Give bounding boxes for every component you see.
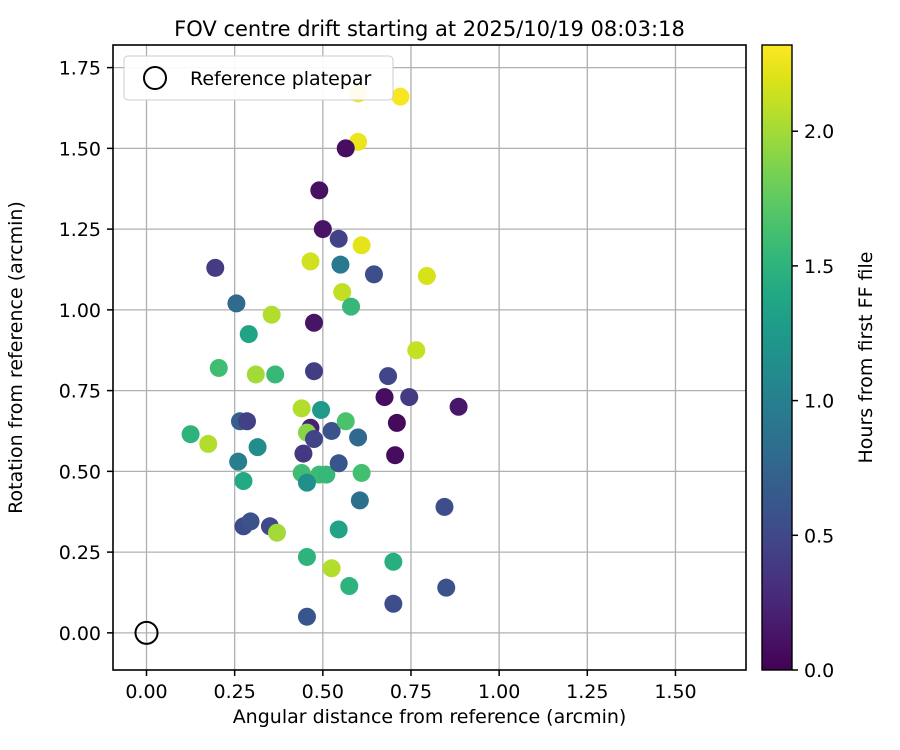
colorbar-tick-label: 2.0: [804, 121, 834, 143]
y-tick-label: 1.00: [59, 300, 101, 322]
scatter-point: [314, 220, 332, 238]
scatter-point: [294, 445, 312, 463]
axes-background: [113, 45, 746, 670]
y-tick-label: 0.75: [59, 381, 101, 403]
scatter-point: [337, 412, 355, 430]
x-axis-label: Angular distance from reference (arcmin): [233, 706, 627, 728]
scatter-point: [266, 365, 284, 383]
x-tick-label: 0.75: [390, 681, 432, 703]
colorbar-tick-label: 0.0: [804, 660, 834, 682]
y-tick-label: 0.00: [59, 623, 101, 645]
colorbar-gradient: [762, 45, 792, 670]
colorbar-label: Hours from first FF file: [855, 252, 877, 464]
scatter-point: [384, 595, 402, 613]
legend-entry-label: Reference platepar: [190, 68, 372, 90]
scatter-point: [305, 314, 323, 332]
scatter-point: [238, 412, 256, 430]
scatter-point: [391, 88, 409, 106]
x-tick-label: 0.25: [214, 681, 256, 703]
scatter-point: [310, 181, 328, 199]
scatter-point: [400, 388, 418, 406]
x-tick-label: 1.25: [566, 681, 608, 703]
scatter-point: [247, 365, 265, 383]
scatter-point: [450, 398, 468, 416]
scatter-point: [337, 139, 355, 157]
scatter-point: [305, 362, 323, 380]
scatter-point: [388, 414, 406, 432]
figure-canvas: 0.000.250.500.751.001.251.50 0.000.250.5…: [0, 0, 900, 750]
scatter-point: [349, 428, 367, 446]
scatter-point: [234, 472, 252, 490]
y-tick-label: 0.25: [59, 542, 101, 564]
scatter-point: [435, 498, 453, 516]
scatter-point: [249, 438, 267, 456]
scatter-point: [298, 608, 316, 626]
scatter-point: [268, 524, 286, 542]
x-tick-label: 1.50: [654, 681, 696, 703]
scatter-point: [242, 512, 260, 530]
scatter-point: [330, 230, 348, 248]
scatter-point: [263, 306, 281, 324]
scatter-point: [199, 435, 217, 453]
x-tick-label: 1.00: [478, 681, 520, 703]
scatter-point: [182, 425, 200, 443]
scatter-point: [407, 341, 425, 359]
colorbar-tick-label: 0.5: [804, 525, 834, 547]
scatter-point: [384, 553, 402, 571]
scatter-point: [340, 577, 358, 595]
scatter-point: [353, 464, 371, 482]
y-tick-label: 1.50: [59, 138, 101, 160]
colorbar-tick-label: 1.0: [804, 391, 834, 413]
chart-title: FOV centre drift starting at 2025/10/19 …: [174, 17, 685, 41]
scatter-point: [418, 267, 436, 285]
scatter-point: [323, 559, 341, 577]
scatter-point: [229, 453, 247, 471]
scatter-point: [227, 294, 245, 312]
scatter-point: [353, 236, 371, 254]
scatter-plot-svg: 0.000.250.500.751.001.251.50 0.000.250.5…: [0, 0, 900, 750]
scatter-point: [351, 491, 369, 509]
colorbar-tick-label: 1.5: [804, 256, 834, 278]
scatter-point: [386, 446, 404, 464]
legend[interactable]: Reference platepar: [124, 56, 393, 100]
y-tick-label: 1.75: [59, 58, 101, 80]
scatter-point: [210, 359, 228, 377]
y-axis-label: Rotation from reference (arcmin): [5, 201, 27, 514]
scatter-point: [293, 399, 311, 417]
scatter-point: [298, 548, 316, 566]
scatter-point: [331, 256, 349, 274]
scatter-point: [301, 252, 319, 270]
x-tick-label: 0.50: [302, 681, 344, 703]
scatter-point: [379, 367, 397, 385]
scatter-point: [298, 474, 316, 492]
scatter-point: [365, 265, 383, 283]
scatter-point: [330, 454, 348, 472]
scatter-point: [437, 579, 455, 597]
scatter-point: [305, 430, 323, 448]
scatter-point: [312, 401, 330, 419]
scatter-point: [330, 520, 348, 538]
scatter-point: [206, 259, 224, 277]
x-tick-label: 0.00: [125, 681, 167, 703]
scatter-point: [240, 325, 258, 343]
scatter-point: [376, 388, 394, 406]
y-tick-label: 0.50: [59, 461, 101, 483]
y-tick-label: 1.25: [59, 219, 101, 241]
scatter-point: [342, 298, 360, 316]
